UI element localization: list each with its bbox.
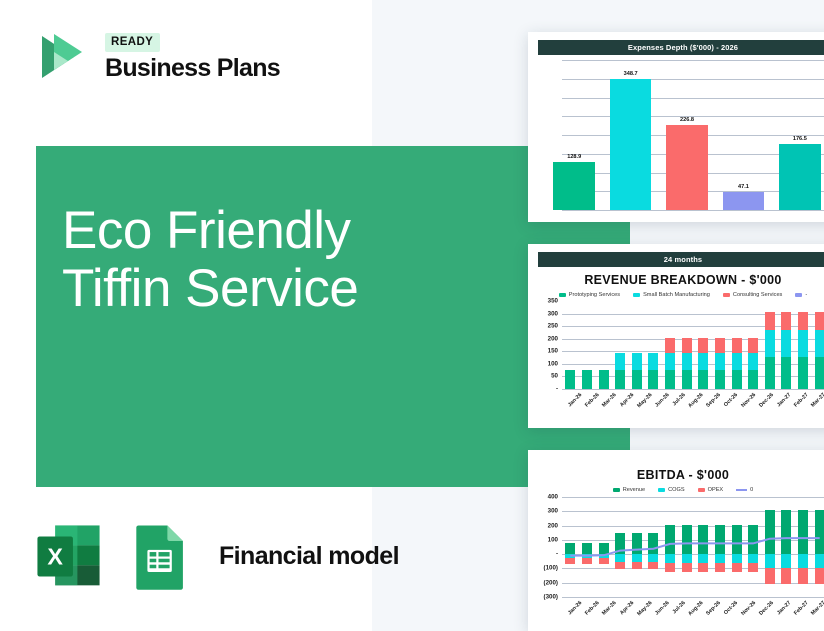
bar-slot	[645, 301, 662, 389]
bar-segment	[715, 353, 725, 371]
bar-slot	[662, 497, 679, 597]
stacked-bar	[682, 338, 692, 389]
legend-swatch	[795, 293, 802, 297]
bar-slot	[795, 497, 812, 597]
stacked-bar	[665, 338, 675, 389]
bar-segment	[781, 357, 791, 389]
bar-segment	[781, 554, 791, 568]
expenses-plot: 128.9348.7226.847.1176.5	[536, 60, 824, 210]
revenue-plot: 35030025020015010050-	[536, 301, 824, 389]
bar-segment	[781, 568, 791, 584]
legend-label: 0	[750, 487, 753, 493]
stacked-bar	[798, 312, 808, 389]
bar-segment	[665, 338, 675, 353]
y-tick-label: 50	[551, 373, 558, 380]
bar-slot	[562, 497, 579, 597]
x-tick-label: Feb-26	[584, 392, 601, 409]
bar-segment	[748, 554, 758, 563]
bar-segment	[765, 357, 775, 389]
bar-slot	[579, 497, 596, 597]
bar-slot	[629, 301, 646, 389]
y-tick-label: 100	[548, 536, 558, 543]
x-tick-label: May-26	[636, 392, 653, 409]
bar-segment	[682, 525, 692, 554]
bar-segment	[781, 312, 791, 330]
bar-segment	[615, 353, 625, 371]
bar-slot: 128.9	[546, 60, 602, 210]
x-tick-label: Feb-27	[793, 600, 810, 617]
footer-label: Financial model	[219, 542, 399, 571]
bar-segment	[615, 533, 625, 554]
x-tick-label: Jul-26	[671, 392, 686, 407]
bar-segment	[698, 525, 708, 554]
bar-slot	[562, 301, 579, 389]
bar-slot	[811, 301, 824, 389]
x-tick-label: Dec-26	[758, 600, 775, 617]
stacked-bar	[815, 312, 824, 389]
bar-segment	[582, 543, 592, 554]
bar-value-label: 128.9	[567, 154, 581, 160]
legend-label: Small Batch Manufacturing	[643, 292, 710, 298]
bar-value-label: 348.7	[624, 71, 638, 77]
bar-slot	[629, 497, 646, 597]
y-axis: 400300200100-(100)(200)(300)	[536, 497, 560, 597]
bar-slot	[745, 497, 762, 597]
bar-segment	[665, 353, 675, 371]
revenue-header-bar: 24 months	[538, 252, 824, 267]
y-tick-label: 400	[548, 494, 558, 501]
bar-segment	[715, 554, 725, 563]
bar-slot: 47.1	[715, 60, 771, 210]
x-tick-label: Mar-26	[602, 600, 619, 617]
bar-slot: 176.5	[772, 60, 824, 210]
bar-slot	[712, 497, 729, 597]
bar-slot	[678, 497, 695, 597]
x-tick-label: Dec-26	[758, 392, 775, 409]
bar-segment	[615, 370, 625, 389]
stacked-bar	[715, 338, 725, 389]
bar-segment	[732, 554, 742, 563]
bar-segment	[765, 312, 775, 330]
bar-slot	[728, 301, 745, 389]
stacked-bar	[565, 370, 575, 389]
stacked-bar	[781, 312, 791, 389]
stacked-bar	[615, 353, 625, 389]
bar-slot	[762, 497, 779, 597]
x-tick-label: Oct-26	[723, 600, 739, 616]
bar-value-label: 226.8	[680, 117, 694, 123]
bar-segment	[665, 525, 675, 554]
legend-swatch	[559, 293, 566, 297]
bar-segment	[798, 330, 808, 356]
legend-swatch	[613, 488, 620, 492]
chart-card-ebitda: EBITDA - $'000 RevenueCOGSOPEX0 40030020…	[528, 450, 824, 631]
legend-swatch	[658, 488, 665, 492]
bar-segment	[599, 370, 609, 389]
bar	[723, 192, 765, 210]
ready-badge: READY	[105, 33, 160, 51]
bar-segment	[632, 370, 642, 389]
bar-segment	[732, 563, 742, 572]
legend-item: -	[795, 292, 807, 298]
bar-slot: 226.8	[659, 60, 715, 210]
bar	[553, 162, 595, 210]
ebitda-plot: 400300200100-(100)(200)(300)	[536, 497, 824, 597]
microsoft-excel-icon: X	[33, 521, 104, 592]
x-tick-label: Feb-26	[584, 600, 601, 617]
legend-item: Consulting Services	[723, 292, 782, 298]
bar-segment	[682, 353, 692, 371]
bar-slot	[695, 497, 712, 597]
gridline	[562, 210, 824, 211]
footer-formats: X Financial model	[33, 521, 399, 592]
legend-label: Prototyping Services	[569, 292, 620, 298]
bar-segment	[565, 370, 575, 389]
bar-slot	[745, 301, 762, 389]
expenses-header-bar: Expenses Depth ($'000) - 2026	[538, 40, 824, 55]
bar-segment	[715, 370, 725, 389]
x-tick-label: Mar-26	[602, 392, 619, 409]
bar-segment	[698, 563, 708, 572]
bar-segment	[615, 562, 625, 569]
y-tick-label: (100)	[544, 565, 558, 572]
legend-item: COGS	[658, 487, 684, 493]
bar-slot	[811, 497, 824, 597]
svg-text:X: X	[47, 543, 63, 569]
bar-segment	[781, 510, 791, 554]
x-tick-group: Jan-26Feb-26Mar-26Apr-26May-26Jun-26Jul-…	[562, 597, 824, 606]
bar-value-label: 176.5	[793, 136, 807, 142]
slide-canvas: READY Business Plans Eco Friendly Tiffin…	[0, 0, 824, 631]
x-tick-label: Jun-26	[654, 392, 671, 409]
stacked-bar	[732, 338, 742, 389]
bar-group: 128.9348.7226.847.1176.5	[546, 60, 824, 210]
y-tick-label: 200	[548, 335, 558, 342]
legend-label: OPEX	[708, 487, 724, 493]
bar-segment	[599, 543, 609, 554]
bar-segment	[815, 357, 824, 389]
bar-value-label: 47.1	[738, 184, 749, 190]
y-tick-label: 350	[548, 298, 558, 305]
bar-segment	[748, 370, 758, 389]
bar-slot	[762, 301, 779, 389]
ebitda-legend: RevenueCOGSOPEX0	[528, 487, 824, 493]
bar-segment	[798, 568, 808, 584]
chart-card-revenue: 24 months REVENUE BREAKDOWN - $'000 Prot…	[528, 244, 824, 428]
stacked-bar	[632, 353, 642, 389]
bar-slot	[662, 301, 679, 389]
bar-slot	[645, 497, 662, 597]
legend-swatch	[723, 293, 730, 297]
bar-segment	[732, 370, 742, 389]
bar-segment	[765, 330, 775, 356]
legend-swatch	[633, 293, 640, 297]
bar-segment	[732, 353, 742, 371]
revenue-x-axis: Jan-26Feb-26Mar-26Apr-26May-26Jun-26Jul-…	[536, 389, 824, 419]
legend-swatch	[736, 489, 747, 491]
stacked-bar	[582, 370, 592, 389]
bar-segment	[665, 554, 675, 563]
x-tick-label: Sep-26	[706, 600, 723, 617]
bar-segment	[765, 568, 775, 584]
ebitda-x-axis: Jan-26Feb-26Mar-26Apr-26May-26Jun-26Jul-…	[536, 597, 824, 627]
x-tick-label: Mar-27	[810, 600, 824, 617]
x-tick-label: Jan-26	[567, 392, 583, 408]
legend-item: 0	[736, 487, 753, 493]
brand-lockup: READY Business Plans	[30, 26, 280, 88]
x-tick: Jan-26	[562, 389, 579, 398]
bar-segment	[732, 525, 742, 554]
x-tick-label: May-26	[636, 600, 653, 617]
y-tick-label: 300	[548, 508, 558, 515]
x-tick-label: Nov-26	[740, 600, 757, 617]
chart-card-expenses: Expenses Depth ($'000) - 2026 128.9348.7…	[528, 32, 824, 222]
x-tick-label: Jul-26	[671, 600, 686, 615]
bar-slot	[728, 497, 745, 597]
bar-segment	[748, 338, 758, 353]
bar-segment	[715, 525, 725, 554]
bar-segment	[682, 370, 692, 389]
y-tick-label: 200	[548, 522, 558, 529]
bar-group	[562, 301, 824, 389]
bar-segment	[648, 533, 658, 554]
bar-slot	[595, 301, 612, 389]
bar-segment	[665, 563, 675, 572]
bar-segment	[682, 338, 692, 353]
bar-segment	[582, 558, 592, 564]
x-tick-label: Sep-26	[706, 392, 723, 409]
bar-segment	[815, 568, 824, 584]
x-tick-label: Jan-26	[567, 600, 583, 616]
bar-slot	[595, 497, 612, 597]
y-tick-label: 250	[548, 323, 558, 330]
page-title: Eco Friendly Tiffin Service	[62, 202, 582, 319]
bar-segment	[748, 563, 758, 572]
ebitda-chart-title: EBITDA - $'000	[528, 468, 824, 482]
x-tick-label: Mar-27	[810, 392, 824, 409]
x-tick-label: Aug-26	[688, 392, 705, 409]
bar-segment	[748, 353, 758, 371]
bar-segment	[648, 353, 658, 371]
brand-text: READY Business Plans	[105, 33, 280, 81]
bar-slot	[612, 497, 629, 597]
google-sheets-icon	[123, 521, 194, 592]
x-tick-label: Nov-26	[740, 392, 757, 409]
bar-segment	[748, 525, 758, 554]
bar-segment	[798, 357, 808, 389]
bar-segment	[565, 558, 575, 564]
bar-segment	[781, 330, 791, 356]
bar-segment	[648, 554, 658, 562]
bar-segment	[715, 338, 725, 353]
y-tick-label: 300	[548, 310, 558, 317]
brand-title: Business Plans	[105, 55, 280, 81]
stacked-bar	[748, 338, 758, 389]
y-tick-label: (200)	[544, 579, 558, 586]
bar-segment	[632, 353, 642, 371]
bar-segment	[798, 510, 808, 554]
x-tick-label: Jan-27	[776, 392, 792, 408]
bar-segment	[815, 312, 824, 330]
bar-segment	[815, 330, 824, 356]
bar-segment	[698, 554, 708, 563]
x-tick-label: Aug-26	[688, 600, 705, 617]
bar-slot	[695, 301, 712, 389]
bar	[779, 144, 821, 210]
bar	[666, 125, 708, 210]
y-axis: 35030025020015010050-	[536, 301, 560, 389]
legend-label: COGS	[668, 487, 684, 493]
y-tick-label: 150	[548, 348, 558, 355]
bar-slot	[795, 301, 812, 389]
bar-segment	[582, 370, 592, 389]
x-tick: Jan-26	[562, 597, 579, 606]
bar-segment	[698, 338, 708, 353]
bar-group	[562, 497, 824, 597]
bar-slot	[678, 301, 695, 389]
play-triangles-logo-icon	[30, 26, 92, 88]
legend-item: Prototyping Services	[559, 292, 620, 298]
x-tick-label: Oct-26	[723, 392, 739, 408]
bar-segment	[632, 533, 642, 554]
bar-segment	[632, 554, 642, 562]
bar-slot: 348.7	[602, 60, 658, 210]
bar-slot	[579, 301, 596, 389]
stacked-bar	[648, 353, 658, 389]
bar-segment	[815, 554, 824, 568]
bar-segment	[648, 370, 658, 389]
revenue-chart-title: REVENUE BREAKDOWN - $'000	[528, 273, 824, 287]
legend-item: Small Batch Manufacturing	[633, 292, 710, 298]
x-tick-label: Apr-26	[619, 392, 635, 408]
x-tick-group: Jan-26Feb-26Mar-26Apr-26May-26Jun-26Jul-…	[562, 389, 824, 398]
bar-segment	[698, 353, 708, 371]
bar-slot	[778, 301, 795, 389]
stacked-bar	[765, 312, 775, 389]
bar	[610, 79, 652, 210]
bar-segment	[815, 510, 824, 554]
legend-item: Revenue	[613, 487, 645, 493]
bar-segment	[682, 554, 692, 563]
bar-segment	[632, 562, 642, 569]
bar-segment	[798, 554, 808, 568]
bar-segment	[715, 563, 725, 572]
x-tick-label: Feb-27	[793, 392, 810, 409]
y-tick-label: -	[556, 551, 558, 558]
stacked-bar	[599, 370, 609, 389]
bar-slot	[612, 301, 629, 389]
bar-segment	[765, 554, 775, 568]
bar-segment	[765, 510, 775, 554]
bar-segment	[615, 554, 625, 562]
bar-segment	[698, 370, 708, 389]
y-tick-label: 100	[548, 360, 558, 367]
bar-slot	[712, 301, 729, 389]
bar-segment	[798, 312, 808, 330]
bar-segment	[599, 558, 609, 564]
legend-item: OPEX	[698, 487, 724, 493]
legend-label: -	[805, 292, 807, 298]
bar-slot	[778, 497, 795, 597]
legend-label: Consulting Services	[733, 292, 782, 298]
stacked-bar	[698, 338, 708, 389]
bar-segment	[565, 543, 575, 554]
revenue-legend: Prototyping ServicesSmall Batch Manufact…	[528, 292, 824, 298]
x-tick-label: Jun-26	[654, 600, 671, 617]
legend-swatch	[698, 488, 705, 492]
legend-label: Revenue	[623, 487, 645, 493]
bar-segment	[732, 338, 742, 353]
x-tick-label: Jan-27	[776, 600, 792, 616]
bar-segment	[648, 562, 658, 569]
x-tick-label: Apr-26	[619, 600, 635, 616]
bar-segment	[682, 563, 692, 572]
bar-segment	[665, 370, 675, 389]
